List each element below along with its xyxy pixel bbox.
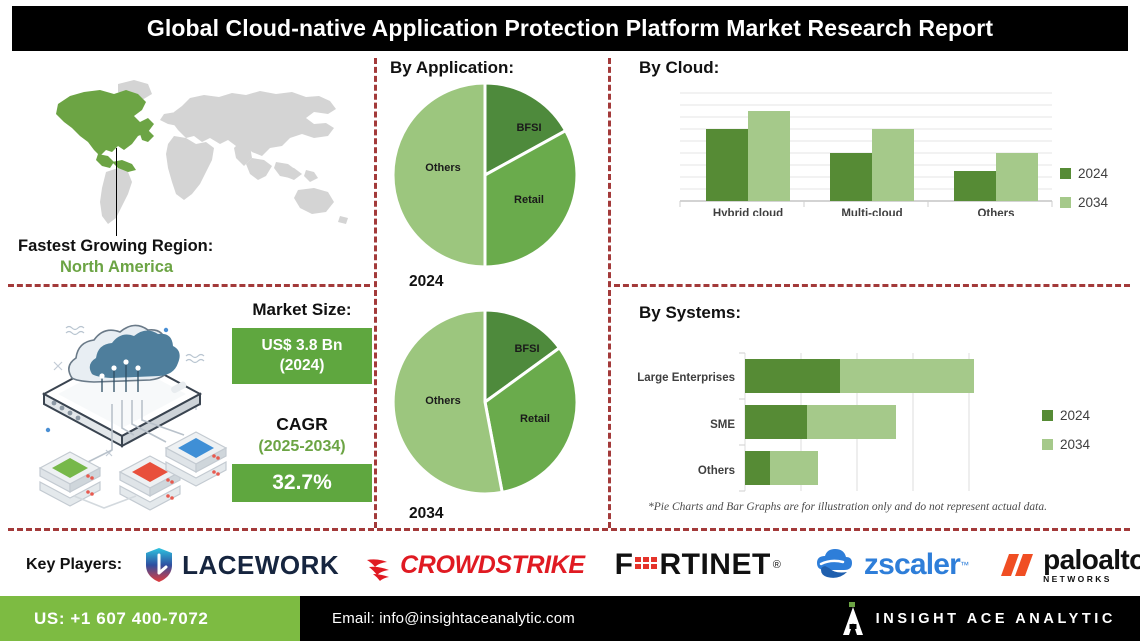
- systems-cat-sme: SME: [710, 419, 735, 431]
- legend-label-2024: 2024: [1060, 408, 1090, 423]
- legend-item-2034-systems: 2034: [1042, 437, 1090, 452]
- bar-others-2024: [954, 171, 996, 201]
- pie-label-others-2034: Others: [425, 395, 460, 407]
- map-leader-line: [116, 148, 117, 236]
- pie-chart-2024: BFSI Retail Others: [385, 80, 585, 270]
- systems-chart-legend: 2024 2034: [1042, 408, 1090, 466]
- divider-horizontal-bottom: [8, 528, 1130, 531]
- world-map: [14, 66, 366, 236]
- cloud-infrastructure-illustration: [14, 300, 240, 516]
- bar-sme-2024: [745, 405, 807, 439]
- legend-swatch-2024: [1042, 410, 1053, 421]
- insight-ace-a-mark-icon: [842, 602, 864, 636]
- market-size-title: Market Size:: [232, 300, 372, 320]
- pie-label-bfsi-2034: BFSI: [514, 343, 539, 355]
- footer-email-text[interactable]: Email: info@insightaceanalytic.com: [332, 610, 575, 627]
- logo-paloalto-sub: NETWORKS: [1043, 574, 1112, 584]
- by-application-title: By Application:: [390, 58, 514, 78]
- legend-item-2024-systems: 2024: [1042, 408, 1090, 423]
- divider-vertical-left: [374, 58, 377, 528]
- footer-brand: INSIGHT ACE ANALYTIC: [842, 596, 1116, 641]
- cloud-cat-others: Others: [977, 208, 1014, 216]
- market-size-amount: US$ 3.8 Bn: [236, 336, 368, 356]
- bar-hybrid-2024: [706, 129, 748, 201]
- paloalto-logo-icon: [999, 550, 1039, 580]
- cagr-value: 32.7%: [232, 464, 372, 502]
- divider-horizontal-left: [8, 284, 370, 287]
- systems-cat-others: Others: [698, 465, 735, 477]
- logo-fortinet[interactable]: F RTINET ®: [615, 545, 781, 585]
- legend-item-2034: 2034: [1060, 195, 1108, 210]
- by-cloud-title: By Cloud:: [639, 58, 719, 78]
- cloud-bar-chart: Hybrid cloud Multi-cloud Others: [660, 86, 1060, 216]
- by-systems-title: By Systems:: [639, 303, 741, 323]
- pie-label-retail-2034: Retail: [520, 413, 550, 425]
- logo-paloalto-text: paloalto: [1043, 547, 1140, 573]
- logo-zscaler-tm: ™: [960, 560, 969, 570]
- divider-vertical-right: [608, 58, 611, 528]
- bar-hybrid-2034: [748, 111, 790, 201]
- cloud-cat-multi: Multi-cloud: [841, 208, 902, 216]
- region-label: Fastest Growing Region:: [18, 236, 348, 256]
- legend-label-2034: 2034: [1060, 437, 1090, 452]
- bar-systems-others-2024: [745, 451, 770, 485]
- logo-fortinet-text: RTINET: [659, 548, 770, 582]
- market-size-block: Market Size: US$ 3.8 Bn (2024) CAGR (202…: [232, 300, 372, 502]
- legend-item-2024: 2024: [1060, 166, 1108, 181]
- bar-large-2034: [840, 359, 974, 393]
- bar-systems-others-2034: [770, 451, 818, 485]
- logo-lacework[interactable]: LACEWORK: [144, 545, 339, 585]
- cloud-chart-legend: 2024 2034: [1060, 166, 1108, 224]
- infographic-page: Global Cloud-native Application Protecti…: [0, 0, 1140, 641]
- logo-fortinet-f: F: [615, 548, 634, 582]
- cagr-period: (2025-2034): [232, 438, 372, 456]
- logo-fortinet-registered: ®: [773, 559, 781, 571]
- bar-others-2034: [996, 153, 1038, 201]
- zscaler-cloud-icon: [815, 548, 863, 582]
- pie-chart-2034: BFSI Retail Others: [385, 307, 585, 497]
- report-title-bar: Global Cloud-native Application Protecti…: [12, 6, 1128, 51]
- footer-brand-text: INSIGHT ACE ANALYTIC: [876, 611, 1116, 627]
- region-value: North America: [18, 256, 348, 278]
- page-title: Global Cloud-native Application Protecti…: [147, 15, 993, 42]
- logo-zscaler-text: zscaler: [864, 548, 960, 582]
- chart-disclaimer: *Pie Charts and Bar Graphs are for illus…: [648, 501, 1047, 513]
- bar-multicloud-2034: [872, 129, 914, 201]
- market-size-year: (2024): [236, 356, 368, 376]
- systems-cat-large: Large Enterprises: [637, 372, 735, 384]
- key-players-row: Key Players: LACEWORK: [0, 536, 1140, 594]
- legend-swatch-2034: [1042, 439, 1053, 450]
- bar-multicloud-2024: [830, 153, 872, 201]
- logo-crowdstrike[interactable]: CROWDSTRIKE: [365, 545, 584, 585]
- cagr-title: CAGR: [232, 414, 372, 435]
- legend-swatch-2034: [1060, 197, 1071, 208]
- pie-year-2024: 2024: [409, 273, 443, 291]
- fortinet-logo-icon: [634, 553, 658, 577]
- legend-swatch-2024: [1060, 168, 1071, 179]
- cloud-cat-hybrid: Hybrid cloud: [713, 208, 783, 216]
- key-players-label: Key Players:: [26, 556, 122, 574]
- pie-label-others-2024: Others: [425, 162, 460, 174]
- market-size-value: US$ 3.8 Bn (2024): [232, 328, 372, 384]
- lacework-shield-icon: [144, 547, 174, 583]
- bar-large-2024: [745, 359, 840, 393]
- footer-bar: US: +1 607 400-7072 Email: info@insighta…: [0, 596, 1140, 641]
- footer-phone-text: US: +1 607 400-7072: [34, 609, 208, 629]
- logo-zscaler[interactable]: zscaler ™: [815, 545, 969, 585]
- fastest-growing-region: Fastest Growing Region: North America: [18, 236, 348, 278]
- legend-label-2024: 2024: [1078, 166, 1108, 181]
- pie-year-2034: 2034: [409, 505, 443, 523]
- bar-sme-2034: [807, 405, 896, 439]
- logo-crowdstrike-text: CROWDSTRIKE: [400, 551, 584, 580]
- systems-bar-chart: Large Enterprises SME Others: [620, 345, 1040, 500]
- legend-label-2034: 2034: [1078, 195, 1108, 210]
- footer-phone-block[interactable]: US: +1 607 400-7072: [0, 596, 300, 641]
- pie-label-retail-2024: Retail: [514, 194, 544, 206]
- crowdstrike-falcon-icon: [365, 548, 399, 582]
- logo-paloalto[interactable]: paloalto NETWORKS ®: [999, 545, 1140, 585]
- divider-horizontal-right: [614, 284, 1130, 287]
- logo-lacework-text: LACEWORK: [182, 550, 339, 581]
- pie-label-bfsi-2024: BFSI: [516, 122, 541, 134]
